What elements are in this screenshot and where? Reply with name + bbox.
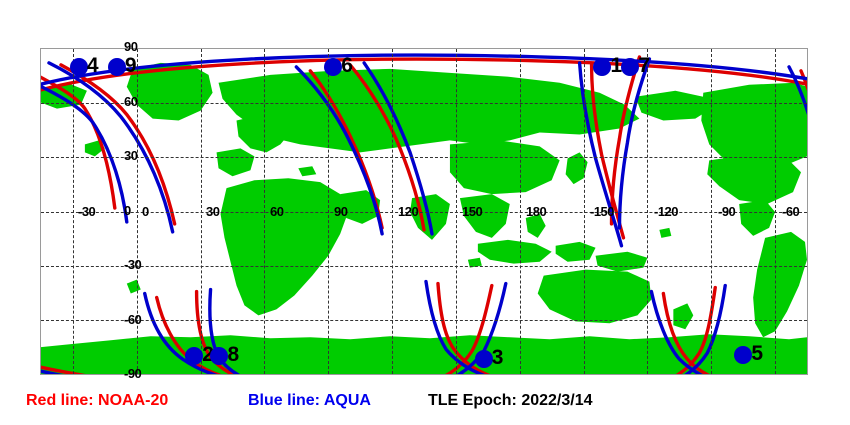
latitude-gridline (41, 103, 807, 104)
satellite-marker-label: 5 (751, 343, 763, 364)
longitude-tick-label: -120 (654, 204, 678, 219)
latitude-tick-label: -30 (124, 257, 141, 272)
world-map-plot: 496172835 (40, 48, 808, 375)
satellite-marker-label: 4 (87, 55, 99, 76)
latitude-gridline (41, 266, 807, 267)
legend-red-line: Red line: NOAA-20 (26, 392, 168, 410)
latitude-tick-label: -90 (124, 366, 141, 381)
longitude-tick-label: 60 (270, 204, 283, 219)
longitude-tick-label: -150 (590, 204, 614, 219)
satellite-ground-track-page: 496172835 -300306090120150180-150-120-90… (0, 0, 850, 425)
longitude-tick-label: 30 (206, 204, 219, 219)
latitude-tick-label: -60 (124, 312, 141, 327)
longitude-tick-label: 0 (142, 204, 149, 219)
satellite-dot-icon (734, 346, 752, 364)
longitude-tick-label: 180 (526, 204, 546, 219)
legend-blue-line: Blue line: AQUA (248, 392, 371, 410)
longitude-tick-label: -60 (782, 204, 799, 219)
longitude-tick-label: -30 (78, 204, 95, 219)
legend-tle-epoch: TLE Epoch: 2022/3/14 (428, 392, 593, 410)
satellite-marker-label: 9 (125, 55, 137, 76)
latitude-gridline (41, 212, 807, 213)
satellite-marker-label: 1 (610, 55, 622, 76)
satellite-marker-label: 6 (341, 55, 353, 76)
longitude-tick-label: -90 (718, 204, 735, 219)
satellite-dot-icon (324, 58, 342, 76)
latitude-tick-label: 90 (124, 39, 137, 54)
satellite-dot-icon (475, 350, 493, 368)
satellite-marker-label: 3 (492, 347, 504, 368)
satellite-dot-icon (70, 58, 88, 76)
longitude-tick-label: 120 (398, 204, 418, 219)
latitude-gridline (41, 157, 807, 158)
latitude-gridline (41, 320, 807, 321)
latitude-tick-label: 0 (124, 203, 131, 218)
longitude-tick-label: 90 (334, 204, 347, 219)
satellite-dot-icon (108, 58, 126, 76)
latitude-tick-label: 60 (124, 94, 137, 109)
legend: Red line: NOAA-20 Blue line: AQUA TLE Ep… (0, 392, 850, 425)
latitude-tick-label: 30 (124, 148, 137, 163)
longitude-tick-label: 150 (462, 204, 482, 219)
satellite-marker-label: 7 (638, 55, 650, 76)
satellite-marker-label: 8 (227, 344, 239, 365)
